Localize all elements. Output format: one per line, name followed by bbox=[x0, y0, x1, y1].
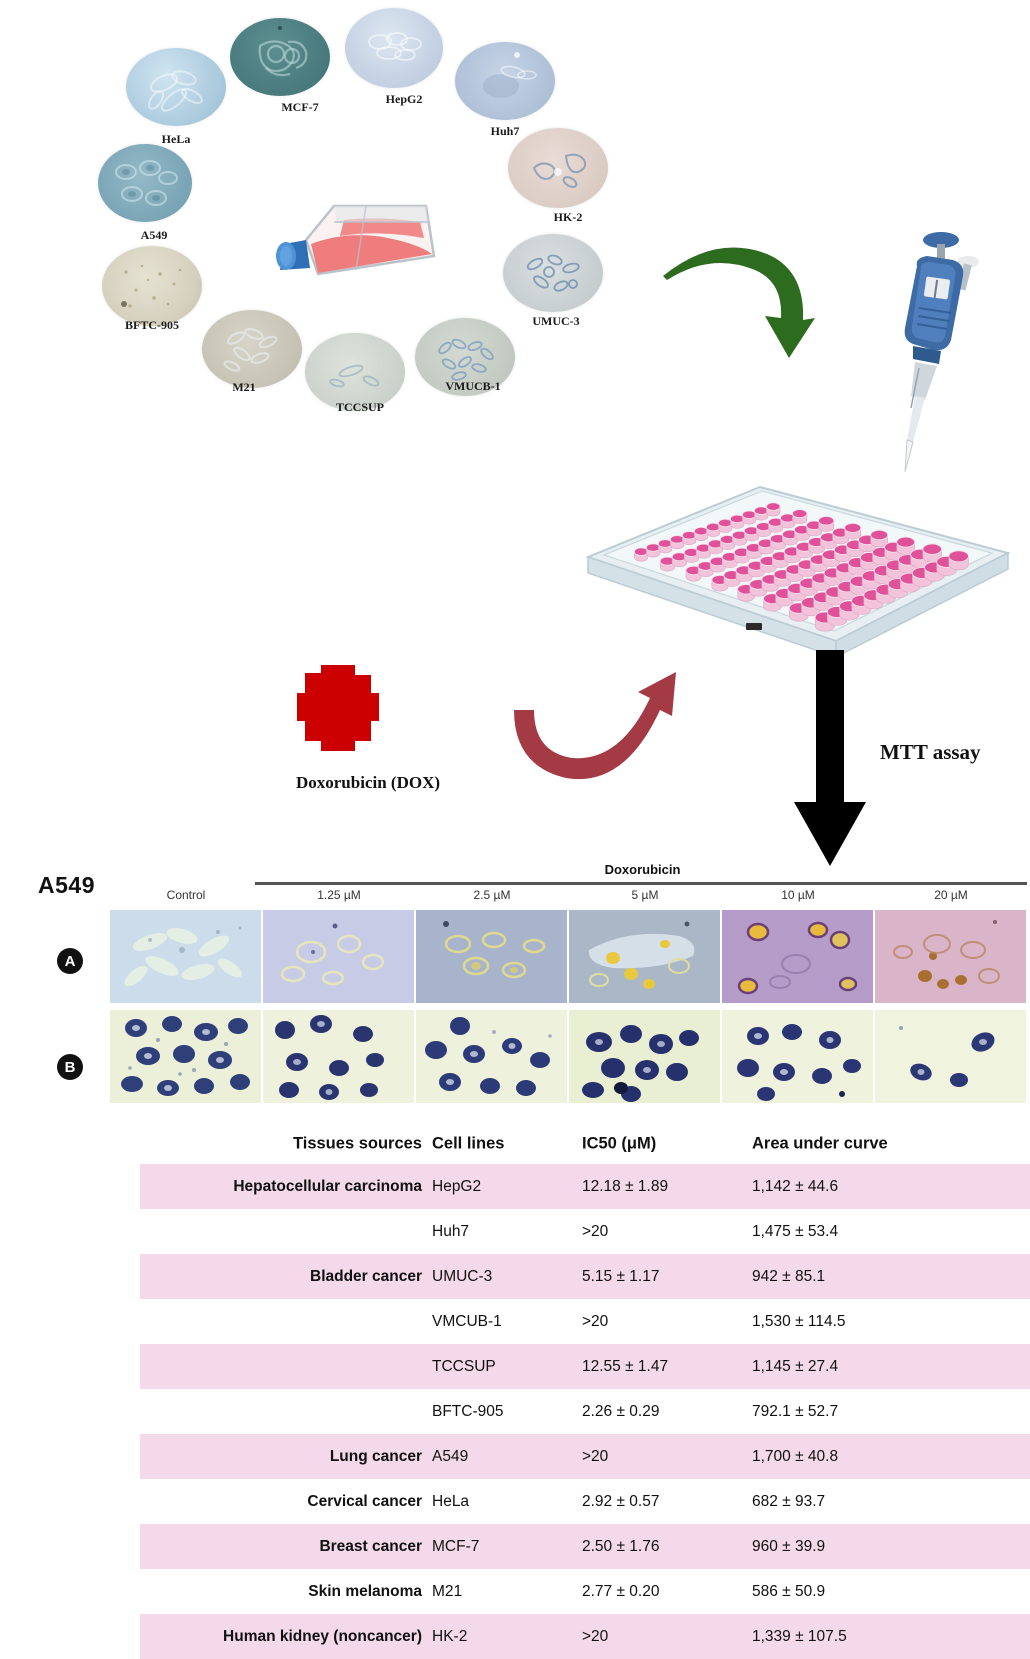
cell-auc-value: 1,530 ± 114.5 bbox=[752, 1313, 846, 1331]
cell-label-a549: A549 bbox=[141, 228, 168, 243]
table-row: Lung cancerA549>201,700 ± 40.8 bbox=[140, 1434, 1030, 1479]
micro-image-a-5um bbox=[569, 910, 720, 1003]
col-header-tissue: Tissues sources bbox=[293, 1135, 422, 1154]
row-letter-a: A bbox=[57, 948, 83, 974]
cell-auc-value: 942 ± 85.1 bbox=[752, 1268, 825, 1286]
red-curved-arrow-icon bbox=[508, 668, 708, 798]
table-row: Hepatocellular carcinomaHepG212.18 ± 1.8… bbox=[140, 1164, 1030, 1209]
panel-header-rule bbox=[255, 882, 1027, 885]
row-letter-b: B bbox=[57, 1054, 83, 1080]
cell-line-name: HepG2 bbox=[432, 1178, 481, 1196]
96-well-plate-illustration bbox=[560, 225, 1030, 655]
cell-auc-value: 792.1 ± 52.7 bbox=[752, 1403, 838, 1421]
cell-ic50-value: 2.26 ± 0.29 bbox=[582, 1403, 659, 1421]
micro-image-a-25um bbox=[416, 910, 567, 1003]
cell-auc-value: 586 ± 50.9 bbox=[752, 1583, 825, 1601]
results-table: Tissues sources Cell lines IC50 (μM) Are… bbox=[140, 1124, 1030, 1659]
conc-label-5: 20 µM bbox=[934, 888, 968, 902]
cell-ic50-value: >20 bbox=[582, 1628, 608, 1646]
cell-line-name: HeLa bbox=[432, 1493, 469, 1511]
cell-label-vmucb1: VMUCB-1 bbox=[445, 379, 500, 394]
cell-label-tccsup: TCCSUP bbox=[336, 400, 384, 415]
cell-auc-value: 682 ± 93.7 bbox=[752, 1493, 825, 1511]
cell-image-mcf7 bbox=[230, 18, 330, 96]
mtt-down-arrow-icon bbox=[790, 650, 870, 870]
table-row: Cervical cancerHeLa2.92 ± 0.57682 ± 93.7 bbox=[140, 1479, 1030, 1524]
micro-image-b-10um bbox=[722, 1010, 873, 1103]
table-row: Skin melanomaM212.77 ± 0.20586 ± 50.9 bbox=[140, 1569, 1030, 1614]
cell-auc-value: 1,700 ± 40.8 bbox=[752, 1448, 838, 1466]
col-header-auc: Area under curve bbox=[752, 1135, 888, 1154]
doxorubicin-block: Doxorubicin (DOX) bbox=[228, 655, 508, 815]
cell-line-name: A549 bbox=[432, 1448, 468, 1466]
doxorubicin-molecule-icon bbox=[283, 655, 393, 760]
col-header-cellline: Cell lines bbox=[432, 1135, 504, 1154]
cell-image-bftc905 bbox=[102, 246, 202, 326]
col-header-ic50: IC50 (μM) bbox=[582, 1135, 656, 1154]
micro-image-b-1250nm bbox=[263, 1010, 414, 1103]
cell-auc-value: 1,142 ± 44.6 bbox=[752, 1178, 838, 1196]
table-row: BFTC-9052.26 ± 0.29792.1 ± 52.7 bbox=[140, 1389, 1030, 1434]
cell-label-hepg2: HepG2 bbox=[386, 92, 423, 107]
micro-image-b-25um bbox=[416, 1010, 567, 1103]
micro-image-b-5um bbox=[569, 1010, 720, 1103]
cell-tissue-source: Breast cancer bbox=[319, 1538, 422, 1556]
cell-image-huh7 bbox=[455, 42, 555, 120]
cell-ic50-value: 12.18 ± 1.89 bbox=[582, 1178, 668, 1196]
micro-image-b-20um bbox=[875, 1010, 1026, 1103]
cell-line-name: Huh7 bbox=[432, 1223, 469, 1241]
micro-image-a-20um bbox=[875, 910, 1026, 1003]
table-row: Human kidney (noncancer)HK-2>201,339 ± 1… bbox=[140, 1614, 1030, 1659]
cell-ic50-value: 5.15 ± 1.17 bbox=[582, 1268, 659, 1286]
micro-image-b-control bbox=[110, 1010, 261, 1103]
mtt-assay-label: MTT assay bbox=[880, 740, 981, 765]
cell-auc-value: 960 ± 39.9 bbox=[752, 1538, 825, 1556]
table-row: Huh7>201,475 ± 53.4 bbox=[140, 1209, 1030, 1254]
micro-image-a-10um bbox=[722, 910, 873, 1003]
conc-label-4: 10 µM bbox=[781, 888, 815, 902]
cell-auc-value: 1,145 ± 27.4 bbox=[752, 1358, 838, 1376]
micro-image-a-control bbox=[110, 910, 261, 1003]
cell-ic50-value: 2.50 ± 1.76 bbox=[582, 1538, 659, 1556]
cell-auc-value: 1,475 ± 53.4 bbox=[752, 1223, 838, 1241]
culture-flask-illustration bbox=[248, 178, 448, 288]
table-row: TCCSUP12.55 ± 1.471,145 ± 27.4 bbox=[140, 1344, 1030, 1389]
cell-tissue-source: Skin melanoma bbox=[308, 1583, 422, 1601]
table-row: Bladder cancerUMUC-35.15 ± 1.17942 ± 85.… bbox=[140, 1254, 1030, 1299]
cell-ic50-value: 2.77 ± 0.20 bbox=[582, 1583, 659, 1601]
cell-tissue-source: Lung cancer bbox=[330, 1448, 422, 1466]
conc-label-control: Control bbox=[167, 888, 206, 902]
cell-image-hela bbox=[126, 48, 226, 126]
cell-label-bftc905: BFTC-905 bbox=[125, 318, 179, 333]
cell-ic50-value: 12.55 ± 1.47 bbox=[582, 1358, 668, 1376]
cell-ic50-value: >20 bbox=[582, 1223, 608, 1241]
cell-label-hk2: HK-2 bbox=[554, 210, 583, 225]
cell-ic50-value: >20 bbox=[582, 1313, 608, 1331]
microscopy-panel: A549 Doxorubicin Control 1.25 µM 2.5 µM … bbox=[0, 862, 1030, 1124]
conc-label-3: 5 µM bbox=[632, 888, 659, 902]
table-row: VMCUB-1>201,530 ± 114.5 bbox=[140, 1299, 1030, 1344]
table-row: Breast cancerMCF-72.50 ± 1.76960 ± 39.9 bbox=[140, 1524, 1030, 1569]
micro-image-a-1250nm bbox=[263, 910, 414, 1003]
cell-label-mcf7: MCF-7 bbox=[281, 100, 318, 115]
doxorubicin-label: Doxorubicin (DOX) bbox=[228, 773, 508, 793]
cell-line-name: HK-2 bbox=[432, 1628, 467, 1646]
cell-ic50-value: 2.92 ± 0.57 bbox=[582, 1493, 659, 1511]
cell-line-name: MCF-7 bbox=[432, 1538, 479, 1556]
cell-ic50-value: >20 bbox=[582, 1448, 608, 1466]
cell-tissue-source: Cervical cancer bbox=[307, 1493, 422, 1511]
cell-tissue-source: Bladder cancer bbox=[310, 1268, 422, 1286]
table-body: Hepatocellular carcinomaHepG212.18 ± 1.8… bbox=[140, 1164, 1030, 1659]
cell-line-name: BFTC-905 bbox=[432, 1403, 504, 1421]
cell-line-name: VMCUB-1 bbox=[432, 1313, 502, 1331]
cell-image-hk2 bbox=[508, 128, 608, 208]
cell-auc-value: 1,339 ± 107.5 bbox=[752, 1628, 847, 1646]
panel-treatment-header: Doxorubicin bbox=[255, 862, 1030, 877]
table-header-row: Tissues sources Cell lines IC50 (μM) Are… bbox=[140, 1124, 1030, 1164]
panel-cell-line-title: A549 bbox=[38, 872, 95, 899]
cell-tissue-source: Hepatocellular carcinoma bbox=[233, 1178, 422, 1196]
cell-image-m21 bbox=[202, 310, 302, 388]
cell-line-name: UMUC-3 bbox=[432, 1268, 492, 1286]
cell-label-m21: M21 bbox=[232, 380, 255, 395]
cell-line-name: M21 bbox=[432, 1583, 462, 1601]
cell-tissue-source: Human kidney (noncancer) bbox=[223, 1628, 422, 1646]
conc-label-2: 2.5 µM bbox=[474, 888, 511, 902]
cell-image-a549 bbox=[98, 144, 192, 222]
cell-line-name: TCCSUP bbox=[432, 1358, 496, 1376]
conc-label-1: 1.25 µM bbox=[317, 888, 361, 902]
cell-image-hepg2 bbox=[345, 8, 443, 88]
